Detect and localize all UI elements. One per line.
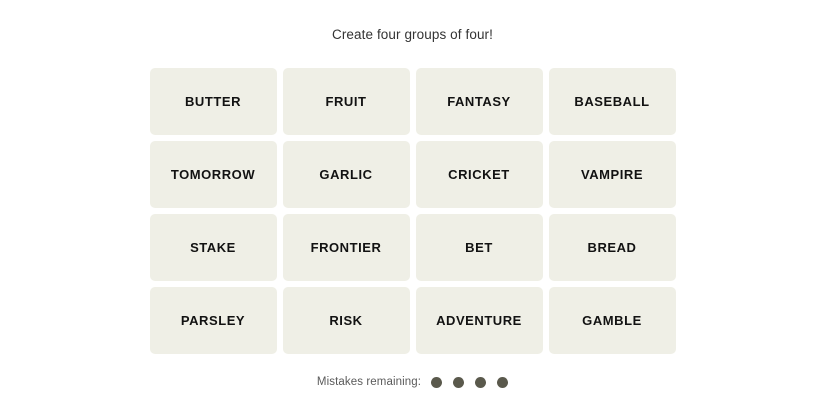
word-tile[interactable]: FRONTIER [283,214,410,281]
word-tile-label: RISK [329,313,362,328]
word-tile-label: VAMPIRE [581,167,643,182]
mistakes-remaining-bar: Mistakes remaining: [317,376,508,388]
word-tile-label: PARSLEY [181,313,245,328]
word-tile[interactable]: PARSLEY [150,287,277,354]
connections-game: Create four groups of four! BUTTER FRUIT… [0,0,825,413]
mistake-dot [475,377,486,388]
word-tile[interactable]: FANTASY [416,68,543,135]
game-subtitle: Create four groups of four! [332,26,493,44]
word-tile[interactable]: VAMPIRE [549,141,676,208]
word-tile[interactable]: ADVENTURE [416,287,543,354]
mistakes-dots [431,377,508,388]
word-tile[interactable]: BREAD [549,214,676,281]
word-tile[interactable]: BASEBALL [549,68,676,135]
word-tile[interactable]: STAKE [150,214,277,281]
word-tile-label: ADVENTURE [436,313,522,328]
mistake-dot [453,377,464,388]
word-tile-label: BASEBALL [574,94,649,109]
mistake-dot [431,377,442,388]
word-tile-label: BREAD [588,240,637,255]
word-tile[interactable]: RISK [283,287,410,354]
word-tile-label: TOMORROW [171,167,255,182]
word-tile[interactable]: BUTTER [150,68,277,135]
word-tile[interactable]: FRUIT [283,68,410,135]
word-tile-label: FRUIT [325,94,366,109]
mistakes-remaining-label: Mistakes remaining: [317,376,421,388]
word-tile-label: FRONTIER [311,240,382,255]
word-tile-label: GAMBLE [582,313,642,328]
word-grid: BUTTER FRUIT FANTASY BASEBALL TOMORROW G… [150,68,676,354]
word-tile[interactable]: CRICKET [416,141,543,208]
word-tile-label: FANTASY [447,94,511,109]
word-tile-label: STAKE [190,240,236,255]
mistake-dot [497,377,508,388]
word-tile[interactable]: GARLIC [283,141,410,208]
word-tile[interactable]: GAMBLE [549,287,676,354]
word-tile-label: BUTTER [185,94,241,109]
word-tile-label: BET [465,240,493,255]
word-tile-label: CRICKET [448,167,510,182]
word-tile[interactable]: BET [416,214,543,281]
word-tile[interactable]: TOMORROW [150,141,277,208]
word-tile-label: GARLIC [319,167,372,182]
